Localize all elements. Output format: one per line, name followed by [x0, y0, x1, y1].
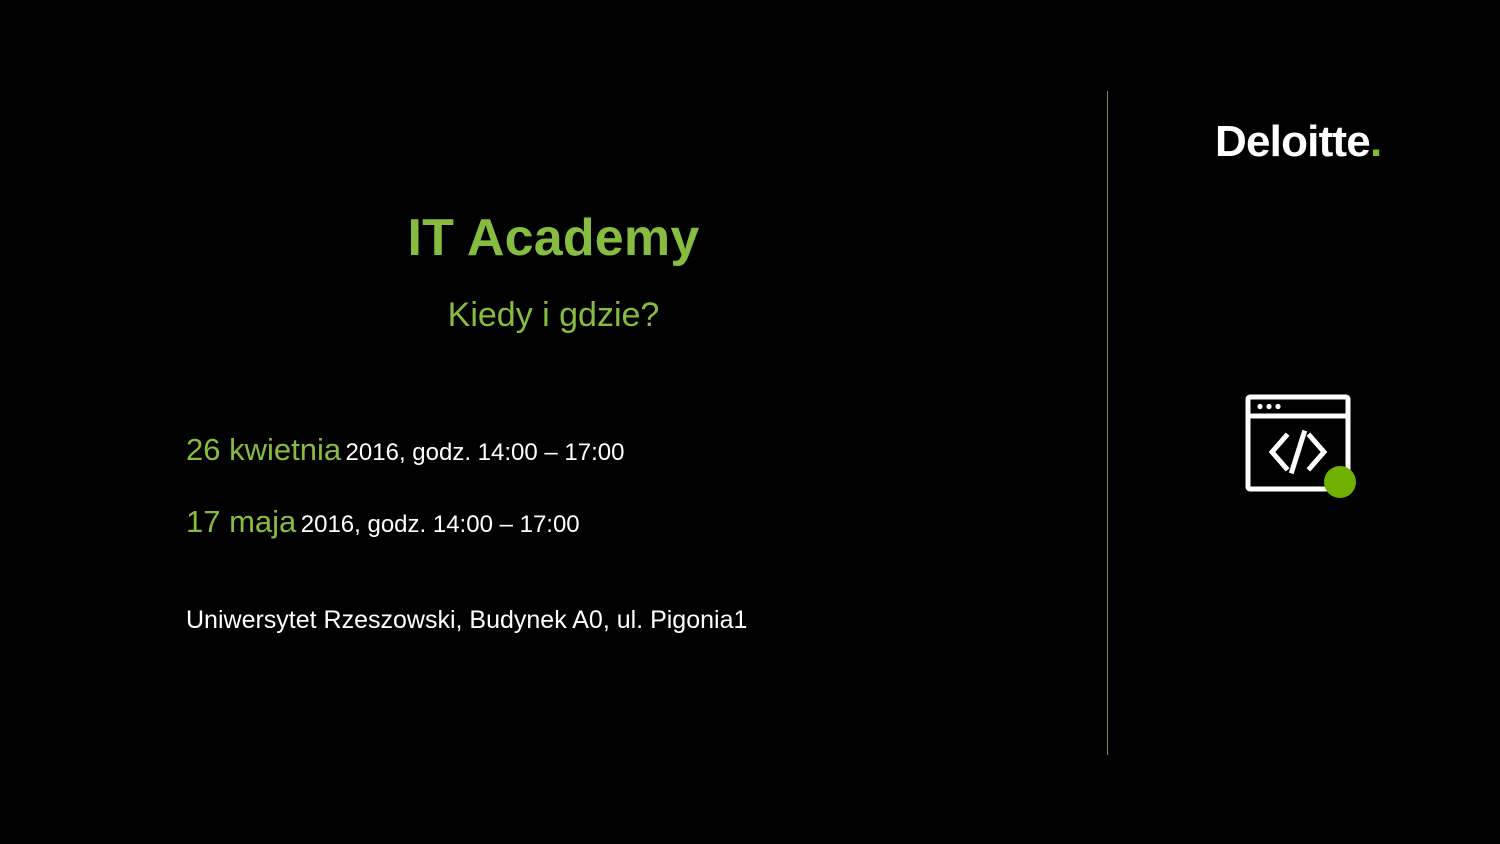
event-line: 26 kwietnia 2016, godz. 14:00 – 17:00	[186, 428, 1066, 478]
brand-area: Deloitte.	[1108, 0, 1500, 844]
presentation-slide: IT Academy Kiedy i gdzie? 26 kwietnia 20…	[0, 0, 1500, 844]
page-title: IT Academy	[0, 208, 1107, 268]
headline-block: IT Academy Kiedy i gdzie?	[0, 208, 1107, 335]
deloitte-wordmark: Deloitte	[1215, 117, 1370, 166]
code-window-icon	[1236, 390, 1366, 500]
event-date: 26 kwietnia	[186, 432, 341, 467]
event-line: 17 maja 2016, godz. 14:00 – 17:00	[186, 500, 1066, 550]
deloitte-logo: Deloitte.	[1215, 117, 1381, 167]
event-details-block: 26 kwietnia 2016, godz. 14:00 – 17:00 17…	[186, 428, 1066, 636]
venue-address: Uniwersytet Rzeszowski, Budynek A0, ul. …	[186, 604, 1066, 636]
event-date: 17 maja	[186, 504, 296, 539]
deloitte-logo-dot: .	[1370, 117, 1381, 166]
event-time: 2016, godz. 14:00 – 17:00	[301, 511, 580, 538]
event-time: 2016, godz. 14:00 – 17:00	[346, 439, 625, 466]
slide-content-area: IT Academy Kiedy i gdzie? 26 kwietnia 20…	[0, 0, 1107, 844]
slide-subtitle: Kiedy i gdzie?	[0, 295, 1107, 335]
